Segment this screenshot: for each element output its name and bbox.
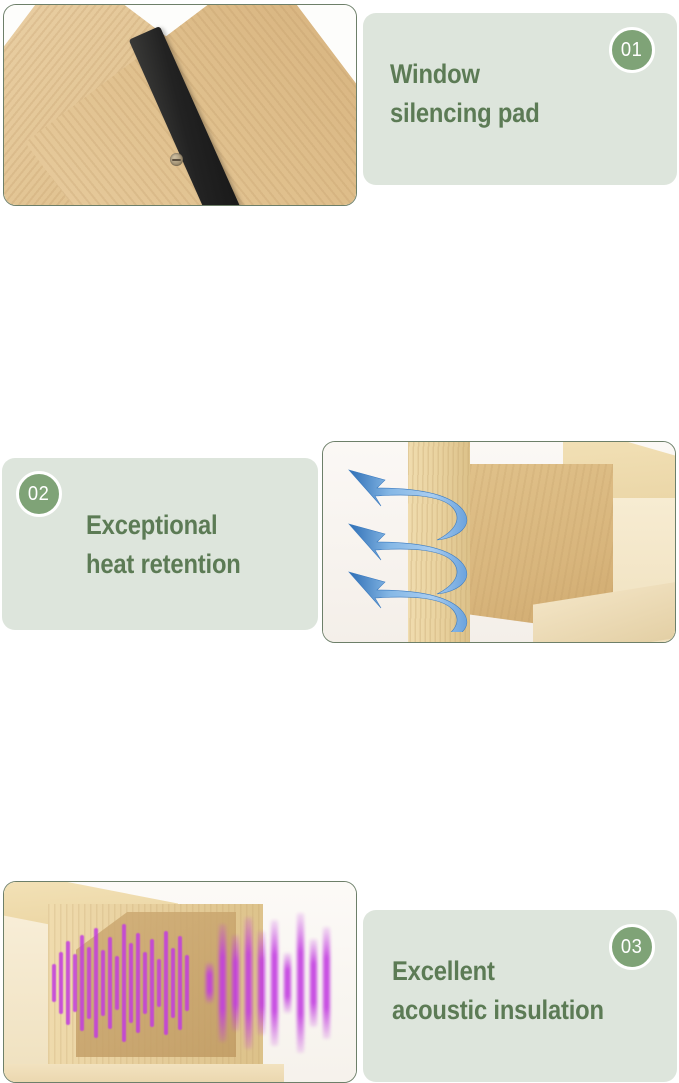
waveform-bar <box>94 928 98 1038</box>
acoustic-insulation-photo <box>4 882 356 1082</box>
waveform-bar <box>115 956 119 1010</box>
waveform-bar <box>323 927 330 1039</box>
waveform-bar <box>258 931 265 1035</box>
waveform-bar <box>297 913 304 1053</box>
silencing-pad-photo <box>4 5 356 205</box>
waveform-bar <box>171 948 175 1018</box>
feature-image-card-3 <box>3 881 357 1083</box>
feature-title-3: Excellent acoustic insulation <box>392 952 604 1030</box>
waveform-bar <box>52 964 56 1002</box>
waveform-bar <box>271 920 278 1046</box>
feature-text-panel-3: 03 Excellent acoustic insulation <box>363 910 677 1082</box>
waveform-bar <box>101 950 105 1016</box>
waveform-bar <box>143 952 147 1014</box>
feature-row-3: 03 Excellent acoustic insulation <box>0 438 679 655</box>
waveform-bar <box>136 933 140 1033</box>
waveform-bar <box>157 959 161 1007</box>
feature-number-1: 01 <box>621 39 642 62</box>
waveform-bar <box>310 939 317 1027</box>
waveform-bar <box>284 953 291 1013</box>
waveform-bar <box>80 935 84 1031</box>
waveform-bar <box>66 941 70 1025</box>
waveform-bar <box>164 931 168 1035</box>
waveform-bar <box>245 917 252 1049</box>
waveform-bar <box>150 939 154 1027</box>
waveform-bar <box>122 924 126 1042</box>
metal-screw <box>170 153 183 166</box>
infographic-board: 01 Window silencing pad 02 Exceptional h… <box>0 0 679 655</box>
waveform-bar <box>87 947 91 1019</box>
feature-badge-3: 03 <box>609 924 655 970</box>
waveform-bar <box>59 952 63 1014</box>
waveform-bar <box>232 935 239 1031</box>
feature-row-2: 02 Exceptional heat retention <box>0 218 679 430</box>
feature-title-1: Window silencing pad <box>390 55 540 133</box>
purple-waveform <box>52 898 342 1073</box>
feature-badge-1: 01 <box>609 27 655 73</box>
waveform-bar <box>129 943 133 1023</box>
feature-image-card-1 <box>3 4 357 206</box>
waveform-bar <box>219 924 226 1042</box>
waveform-bar <box>73 954 77 1012</box>
feature-row-1: 01 Window silencing pad <box>0 0 679 215</box>
feature-number-3: 03 <box>621 936 642 959</box>
feature-text-panel-1: 01 Window silencing pad <box>363 13 677 185</box>
waveform-bar <box>108 937 112 1029</box>
waveform-bar <box>178 936 182 1030</box>
waveform-bar <box>185 955 189 1011</box>
waveform-bar <box>206 963 213 1003</box>
